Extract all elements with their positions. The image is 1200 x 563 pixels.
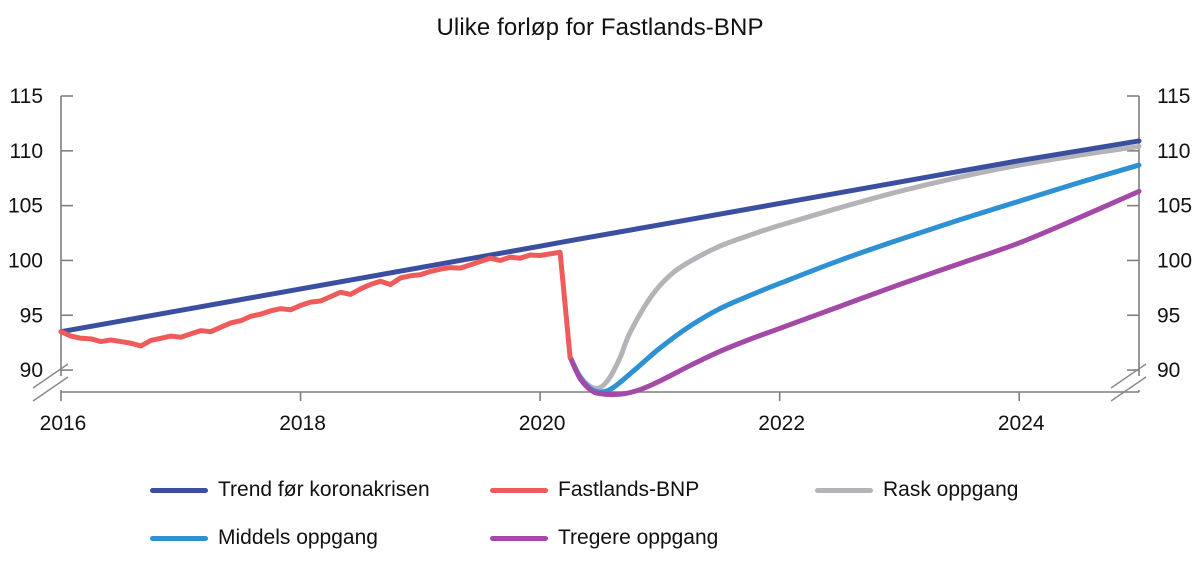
- axis-break-mark-right-0: [1111, 364, 1146, 388]
- line-chart: 9090959510010010510511011011511520162018…: [0, 0, 1200, 460]
- axes: [33, 96, 1146, 401]
- legend-swatch-icon: [490, 488, 548, 493]
- y-axis-label-left-100: 100: [8, 249, 43, 272]
- x-axis-label-2020: 2020: [519, 412, 566, 435]
- y-axis-label-left-95: 95: [20, 304, 43, 327]
- legend-label: Tregere oppgang: [558, 526, 718, 550]
- legend-label: Trend før koronakrisen: [218, 478, 430, 502]
- y-axis-label-left-115: 115: [10, 85, 43, 108]
- legend-item-tregere-oppgang[interactable]: Tregere oppgang: [490, 526, 815, 550]
- legend-swatch-icon: [150, 536, 208, 541]
- legend-label: Fastlands-BNP: [558, 478, 699, 502]
- x-axis-label-2018: 2018: [279, 412, 326, 435]
- tick-labels: 9090959510010010510511011011511520162018…: [8, 85, 1192, 435]
- axis-break-mark-right-1: [1111, 377, 1146, 401]
- y-axis-label-right-90: 90: [1157, 359, 1180, 382]
- y-axis-label-right-105: 105: [1157, 195, 1192, 218]
- series-line-fastlands-bnp: [61, 252, 570, 357]
- legend-swatch-icon: [490, 536, 548, 541]
- legend-item-middels-oppgang[interactable]: Middels oppgang: [150, 526, 490, 550]
- x-axis-label-2024: 2024: [998, 412, 1045, 435]
- legend-swatch-icon: [150, 488, 208, 493]
- x-axis-label-2016: 2016: [40, 412, 87, 435]
- chart-legend: Trend før koronakrisenFastlands-BNPRask …: [150, 466, 1070, 562]
- legend-item-rask-oppgang[interactable]: Rask oppgang: [815, 478, 1070, 502]
- y-axis-label-left-110: 110: [10, 140, 43, 163]
- y-axis-label-right-115: 115: [1157, 85, 1190, 108]
- y-axis-label-left-90: 90: [20, 359, 43, 382]
- series-line-middels-oppgang: [570, 165, 1139, 392]
- x-axis-label-2022: 2022: [758, 412, 805, 435]
- legend-item-fastlands-bnp[interactable]: Fastlands-BNP: [490, 478, 815, 502]
- series-line-trend-f-r-koronakrisen: [61, 141, 1139, 332]
- legend-swatch-icon: [815, 488, 873, 493]
- y-axis-label-right-110: 110: [1157, 140, 1190, 163]
- y-axis-label-left-105: 105: [8, 195, 43, 218]
- y-axis-label-right-100: 100: [1157, 249, 1192, 272]
- legend-label: Middels oppgang: [218, 526, 378, 550]
- y-axis-label-right-95: 95: [1157, 304, 1180, 327]
- chart-page: Ulike forløp for Fastlands-BNP 909095951…: [0, 0, 1200, 563]
- legend-label: Rask oppgang: [883, 478, 1018, 502]
- legend-item-trend-f-r-koronakrisen[interactable]: Trend før koronakrisen: [150, 478, 490, 502]
- series-lines: [61, 141, 1139, 395]
